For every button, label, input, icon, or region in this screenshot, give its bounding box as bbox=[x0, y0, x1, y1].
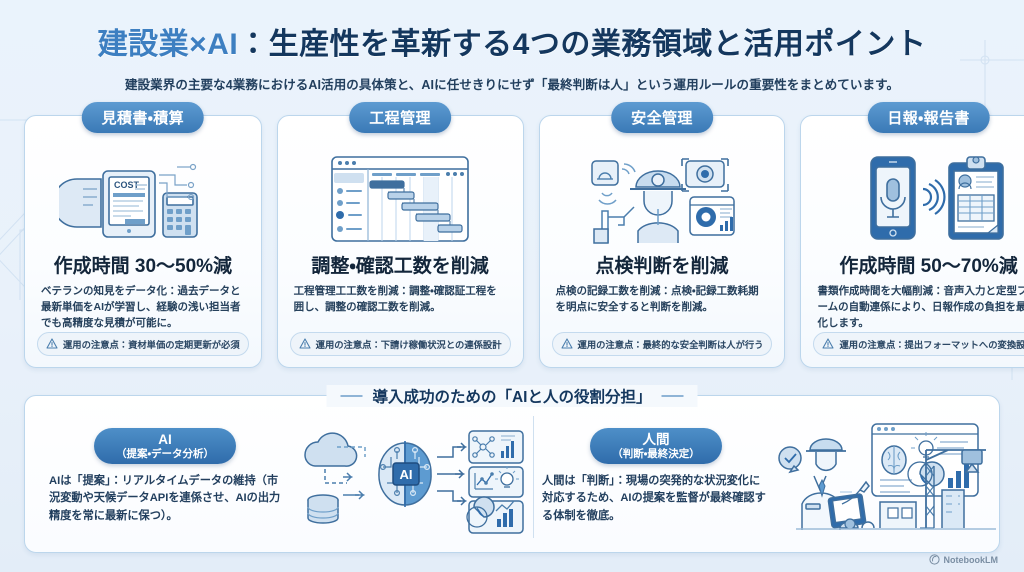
card-note-text: 運用の注意点：最終的な安全判断は人が行う bbox=[578, 337, 764, 351]
card-body-safety: 点検の記録工数を削減：点検・記録工数耗期を明点に安全すると判断を削減。 bbox=[552, 284, 773, 316]
gantt-chart-icon bbox=[316, 146, 484, 248]
supervisor-site-icon bbox=[776, 416, 1012, 538]
ai-role-pill: AI （提案・データ分析） bbox=[94, 428, 236, 464]
role-division-title: 導入成功のための「AIと人の役割分担」 bbox=[326, 385, 697, 407]
page-subtitle: 建設業界の主要な4業務におけるAI活用の具体策と、AIに任せきりにせず「最終判断… bbox=[24, 74, 1000, 93]
voice-report-icon bbox=[845, 146, 1013, 248]
card-schedule[interactable]: 工程管理 bbox=[277, 115, 524, 368]
card-note-estimate: 運用の注意点：資材単価の定期更新が必須 bbox=[37, 332, 249, 356]
card-headline-schedule: 調整・確認工数を削減 bbox=[311, 256, 488, 278]
card-note-schedule: 運用の注意点：下請け稼働状況との連係設計 bbox=[290, 332, 511, 356]
warning-icon bbox=[561, 338, 573, 349]
card-headline-report: 作成時間 50〜70%減 bbox=[839, 256, 1017, 278]
card-pill-schedule: 工程管理 bbox=[349, 102, 451, 133]
card-report[interactable]: 日報・報告書 bbox=[800, 115, 1024, 368]
warning-icon bbox=[822, 338, 834, 349]
title-dash-left bbox=[340, 395, 362, 397]
page-title: 建設業×AI：生産性を革新する4つの業務領域と活用ポイント bbox=[24, 28, 1000, 63]
card-headline-safety: 点検判断を削減 bbox=[595, 256, 728, 278]
card-pill-estimate: 見積書・積算 bbox=[82, 102, 205, 133]
card-body-schedule: 工程管理工工数を削減：調整・確認証工程を囲し、調整の確認工数を削減。 bbox=[290, 284, 511, 316]
card-pill-report: 日報・報告書 bbox=[867, 102, 990, 133]
ai-role-column: AI （提案・データ分析） AIは「提案」：リアルタイムデータの維持（市況変動や… bbox=[49, 428, 281, 525]
role-division-title-text: 導入成功のための「AIと人の役割分担」 bbox=[372, 385, 651, 407]
safety-worker-icon bbox=[578, 146, 746, 248]
warning-icon bbox=[299, 338, 311, 349]
card-headline-estimate: 作成時間 30〜50%減 bbox=[54, 256, 232, 278]
ai-brain-pipeline-icon: AI bbox=[287, 417, 525, 537]
human-role-pill: 人間 （判断・最終決定） bbox=[590, 428, 722, 464]
ai-role-label: AI bbox=[116, 432, 214, 448]
card-body-report: 書類作成時間を大幅削減：音声入力と定型フォームの自動連係により、日報作成の負担を… bbox=[813, 284, 1024, 331]
human-role-sublabel: （判断・最終決定） bbox=[612, 448, 700, 460]
title-dash-right bbox=[662, 395, 684, 397]
card-note-text: 運用の注意点：下請け稼働状況との連係設計 bbox=[316, 337, 502, 351]
card-safety[interactable]: 安全管理 bbox=[539, 115, 786, 368]
card-note-text: 運用の注意点：資材単価の定期更新が必須 bbox=[63, 337, 240, 351]
ai-half: AI （提案・データ分析） AIは「提案」：リアルタイムデータの維持（市況変動や… bbox=[41, 416, 533, 538]
card-body-estimate: ベテランの知見をデータ化：過去データと最新単価をAIが学習し、経験の浅い担当者で… bbox=[37, 284, 249, 331]
card-note-safety: 運用の注意点：最終的な安全判断は人が行う bbox=[552, 332, 773, 356]
role-division-panel: 導入成功のための「AIと人の役割分担」 AI （提案・データ分析） AIは「提案… bbox=[24, 395, 1000, 553]
human-role-label: 人間 bbox=[612, 432, 700, 448]
card-note-text: 運用の注意点：提出フォーマットへの変換設計 bbox=[839, 337, 1024, 351]
role-split: AI （提案・データ分析） AIは「提案」：リアルタイムデータの維持（市況変動や… bbox=[41, 416, 983, 538]
infographic-page: 建設業×AI：生産性を革新する4つの業務領域と活用ポイント 建設業界の主要な4業… bbox=[0, 0, 1024, 572]
title-accent: 建設業×AI bbox=[98, 28, 239, 61]
card-note-report: 運用の注意点：提出フォーマットへの変換設計 bbox=[813, 332, 1024, 356]
human-role-text: 人間は「判断」：現場の突発的な状況変化に対応するため、AIの提案を監督が最終確認… bbox=[542, 473, 770, 525]
human-half: 人間 （判断・最終決定） 人間は「判断」：現場の突発的な状況変化に対応するため、… bbox=[534, 416, 1020, 538]
warning-icon bbox=[46, 338, 58, 349]
ai-role-text: AIは「提案」：リアルタイムデータの維持（市況変動や天候データAPIを連係させ、… bbox=[49, 473, 281, 525]
notebooklm-logo-icon bbox=[929, 554, 940, 565]
title-rest: ：生産性を革新する4つの業務領域と活用ポイント bbox=[238, 28, 926, 61]
notebooklm-watermark: NotebookLM bbox=[929, 554, 999, 565]
ai-role-sublabel: （提案・データ分析） bbox=[116, 448, 214, 460]
card-grid: 見積書・積算 COST bbox=[24, 115, 1000, 368]
watermark-label: NotebookLM bbox=[944, 555, 999, 565]
human-role-column: 人間 （判断・最終決定） 人間は「判断」：現場の突発的な状況変化に対応するため、… bbox=[542, 428, 770, 525]
estimate-document-icon: COST bbox=[59, 146, 227, 248]
card-estimate[interactable]: 見積書・積算 COST bbox=[24, 115, 262, 368]
card-pill-safety: 安全管理 bbox=[611, 102, 713, 133]
svg-text:AI: AI bbox=[400, 467, 413, 482]
